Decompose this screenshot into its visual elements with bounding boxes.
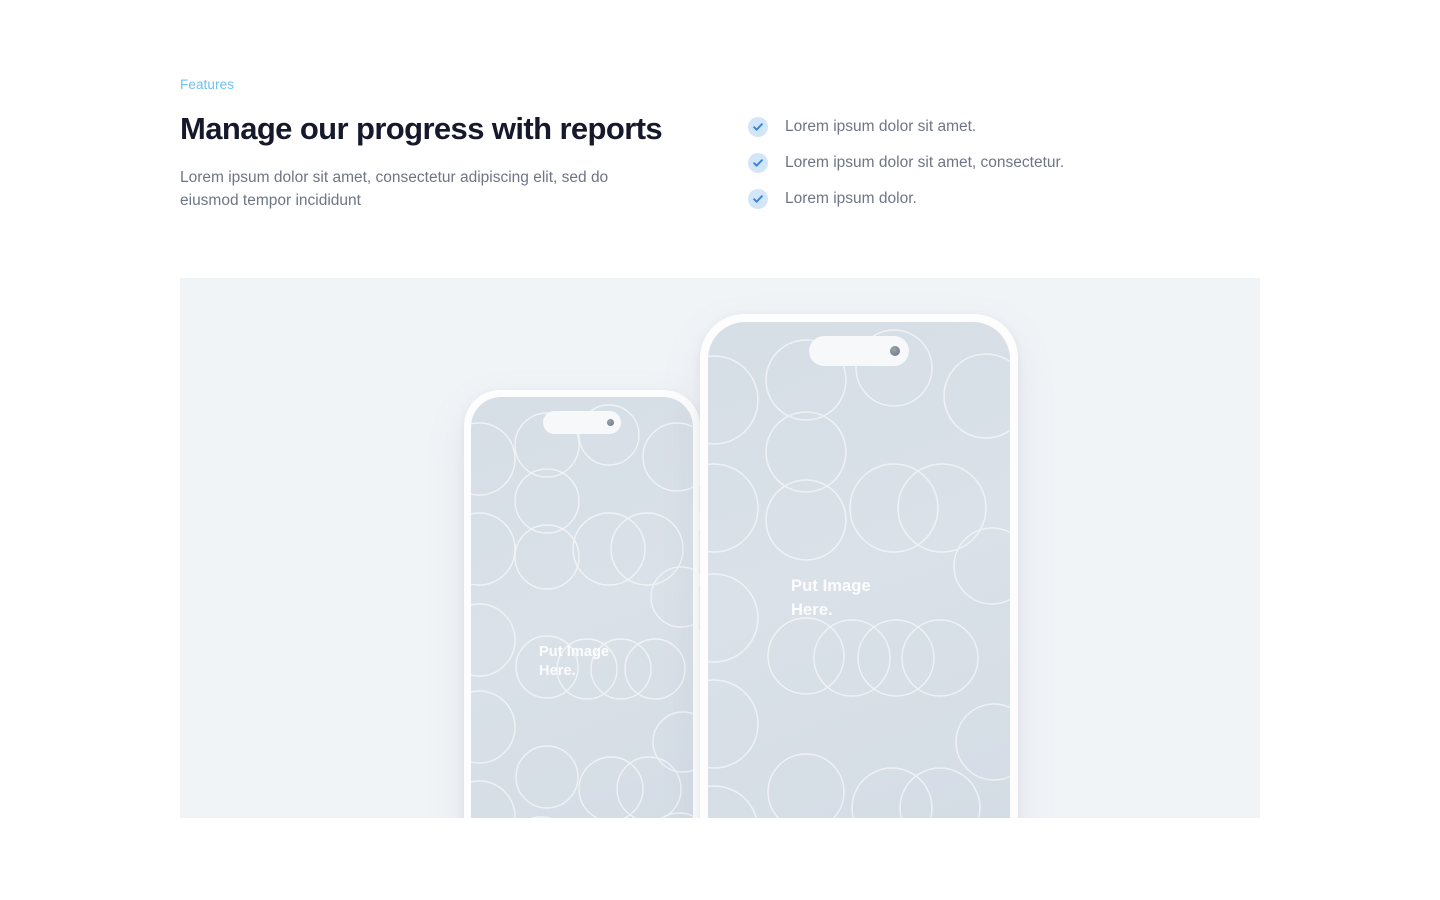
section-copy: Features Manage our progress with report… xyxy=(180,76,720,212)
mockup-panel: Put Image Here. xyxy=(180,278,1260,818)
screen-placeholder-text: Put Image Here. xyxy=(791,574,871,622)
check-circle-icon xyxy=(748,189,768,209)
phone-mockup-back: Put Image Here. xyxy=(464,390,700,818)
section-eyebrow: Features xyxy=(180,76,720,94)
list-item-label: Lorem ipsum dolor. xyxy=(785,188,917,209)
check-circle-icon xyxy=(748,153,768,173)
circle-pattern-decoration xyxy=(471,397,693,818)
screen-placeholder-text: Put Image Here. xyxy=(539,643,609,681)
phone-mockup-front: Put Image Here. xyxy=(700,314,1018,818)
list-item: Lorem ipsum dolor sit amet, consectetur. xyxy=(748,152,1260,173)
list-item: Lorem ipsum dolor sit amet. xyxy=(748,116,1260,137)
check-circle-icon xyxy=(748,117,768,137)
phone-screen-front: Put Image Here. xyxy=(708,322,1010,818)
list-item: Lorem ipsum dolor. xyxy=(748,188,1260,209)
screen-text-line-1: Put Image xyxy=(791,574,871,598)
dynamic-island xyxy=(809,336,909,366)
feature-checklist: Lorem ipsum dolor sit amet. Lorem ipsum … xyxy=(720,76,1260,209)
camera-lens-icon xyxy=(890,346,900,356)
screen-text-line-2: Here. xyxy=(791,598,871,622)
phone-screen-back: Put Image Here. xyxy=(471,397,693,818)
section-description: Lorem ipsum dolor sit amet, consectetur … xyxy=(180,166,650,212)
page-title: Manage our progress with reports xyxy=(180,110,720,148)
features-section: Features Manage our progress with report… xyxy=(180,76,1260,212)
camera-lens-icon xyxy=(607,419,614,426)
dynamic-island xyxy=(543,411,621,434)
screen-text-line-2: Here. xyxy=(539,662,609,681)
page-root: Features Manage our progress with report… xyxy=(0,0,1440,900)
list-item-label: Lorem ipsum dolor sit amet. xyxy=(785,116,976,137)
list-item-label: Lorem ipsum dolor sit amet, consectetur. xyxy=(785,152,1064,173)
screen-text-line-1: Put Image xyxy=(539,643,609,662)
circle-pattern-decoration xyxy=(708,322,1010,818)
